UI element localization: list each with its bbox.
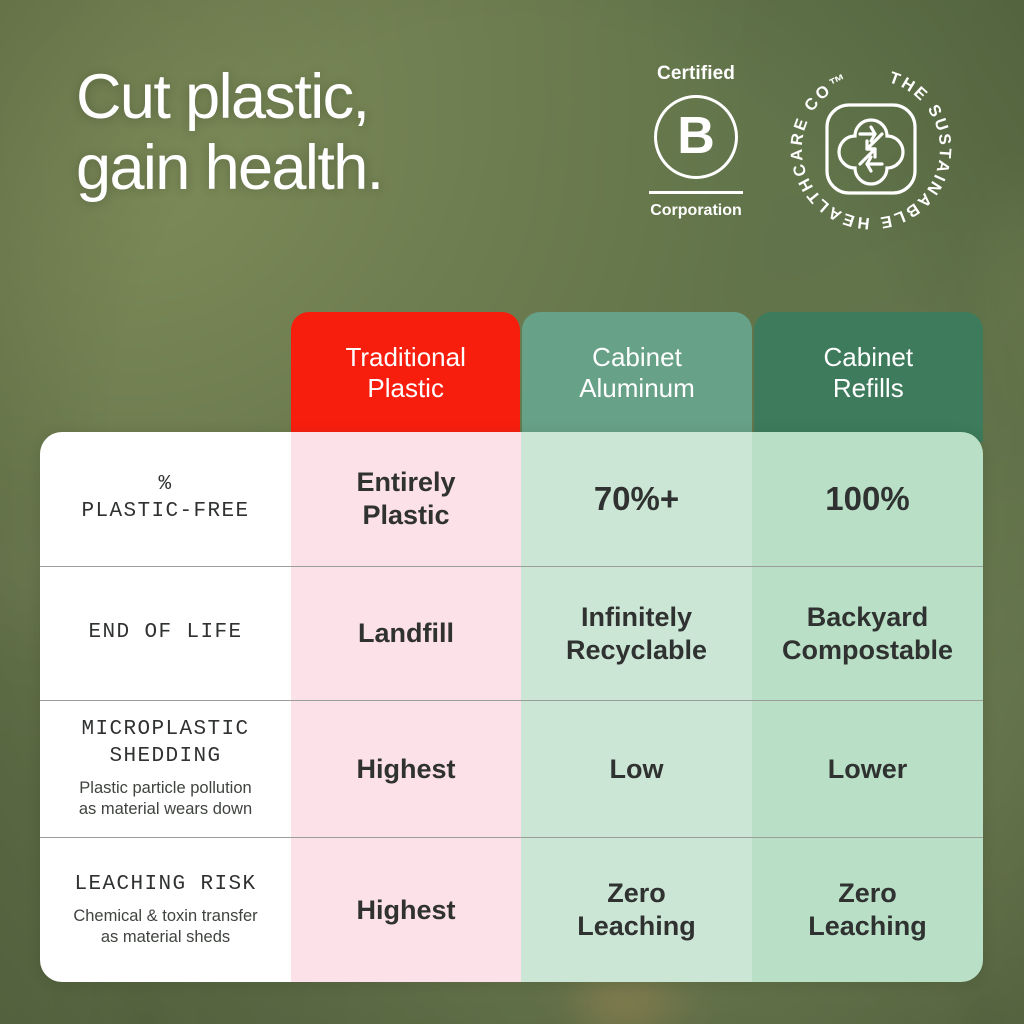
- cell-microplastic-cabinet-aluminum: Low: [521, 700, 752, 837]
- row-label-end-of-life: END OF LIFE: [40, 566, 291, 700]
- column-header-traditional-plastic[interactable]: Traditional Plastic: [291, 312, 520, 442]
- cell-plastic-free-cabinet-aluminum: 70%+: [521, 432, 752, 566]
- cell-leaching-cabinet-aluminum: Zero Leaching: [521, 837, 752, 982]
- cell-microplastic-cabinet-refills: Lower: [752, 700, 983, 837]
- cell-end-of-life-cabinet-aluminum: Infinitely Recyclable: [521, 566, 752, 700]
- b-corp-divider: [649, 191, 743, 194]
- row-label-leaching-risk: LEACHING RISK Chemical & toxin transfer …: [40, 837, 291, 982]
- row-label-text: END OF LIFE: [88, 620, 242, 647]
- comparison-column-headers: Traditional Plastic Cabinet Aluminum Cab…: [291, 312, 983, 442]
- cell-end-of-life-cabinet-refills: Backyard Compostable: [752, 566, 983, 700]
- cell-plastic-free-traditional-plastic: Entirely Plastic: [291, 432, 521, 566]
- sustainable-healthcare-co-badge: THE SUSTAINABLE HEALTHCARE CO™: [786, 64, 956, 234]
- recycling-cross-icon: [839, 120, 903, 184]
- row-label-description: Plastic particle pollution as material w…: [79, 778, 252, 821]
- page-headline: Cut plastic, gain health.: [76, 62, 383, 203]
- row-label-plastic-free: % PLASTIC-FREE: [40, 432, 291, 566]
- row-label-text: MICROPLASTIC SHEDDING: [81, 717, 249, 771]
- b-corp-b-icon: B: [654, 95, 738, 179]
- b-corp-b-letter: B: [677, 110, 715, 162]
- table-row: MICROPLASTIC SHEDDING Plastic particle p…: [40, 700, 983, 837]
- cell-plastic-free-cabinet-refills: 100%: [752, 432, 983, 566]
- row-label-text: LEACHING RISK: [74, 872, 256, 899]
- column-header-cabinet-aluminum[interactable]: Cabinet Aluminum: [522, 312, 751, 442]
- b-corp-certified-badge: Certified B Corporation: [640, 64, 752, 220]
- comparison-table: % PLASTIC-FREE Entirely Plastic 70%+ 100…: [40, 432, 983, 982]
- column-header-cabinet-refills[interactable]: Cabinet Refills: [754, 312, 983, 442]
- cell-leaching-traditional-plastic: Highest: [291, 837, 521, 982]
- cell-microplastic-traditional-plastic: Highest: [291, 700, 521, 837]
- table-row: % PLASTIC-FREE Entirely Plastic 70%+ 100…: [40, 432, 983, 566]
- b-corp-certified-label: Certified: [640, 64, 752, 83]
- cell-leaching-cabinet-refills: Zero Leaching: [752, 837, 983, 982]
- table-row: END OF LIFE Landfill Infinitely Recyclab…: [40, 566, 983, 700]
- table-row: LEACHING RISK Chemical & toxin transfer …: [40, 837, 983, 982]
- row-label-description: Chemical & toxin transfer as material sh…: [73, 906, 257, 949]
- cell-end-of-life-traditional-plastic: Landfill: [291, 566, 521, 700]
- row-label-text: % PLASTIC-FREE: [81, 472, 249, 526]
- row-label-microplastic-shedding: MICROPLASTIC SHEDDING Plastic particle p…: [40, 700, 291, 837]
- b-corp-corporation-label: Corporation: [640, 202, 752, 220]
